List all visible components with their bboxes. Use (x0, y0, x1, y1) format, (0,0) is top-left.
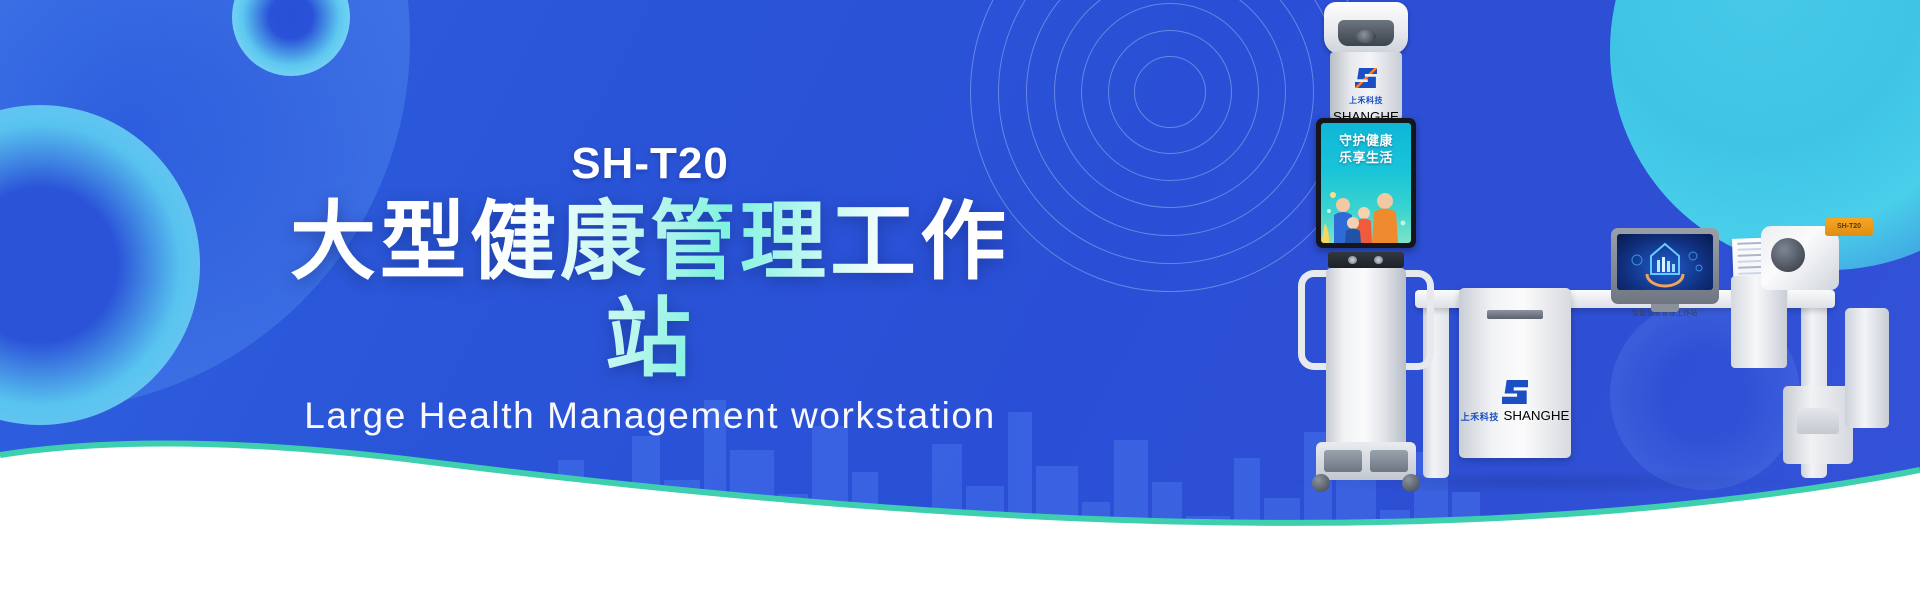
page-subtitle: Large Health Management workstation (270, 395, 1030, 437)
model-label-text: SH-T20 (1825, 218, 1873, 236)
brand-mark-icon (1355, 68, 1377, 88)
model-code: SH-T20 (270, 140, 1030, 188)
kiosk-brand-cn: 上禾科技 (1349, 96, 1383, 105)
kiosk-height-sensor-head (1324, 2, 1408, 54)
health-kiosk: 上禾科技 SHANGHE 守护健康 乐享生活 (1310, 2, 1422, 482)
sensor-dot-right (1374, 256, 1383, 264)
caster-wheel-left (1312, 474, 1330, 492)
caster-wheel-right (1402, 474, 1420, 492)
kiosk-scale-base (1316, 442, 1416, 480)
page-title: 大型健康管理工作站 (270, 194, 1030, 387)
monitor-screen (1617, 234, 1713, 290)
desk-cabinet: 上禾科技 SHANGHE (1459, 288, 1571, 458)
health-hands-icon (1617, 234, 1713, 290)
cabinet-slot (1487, 310, 1543, 319)
family-illustration (1321, 179, 1411, 243)
cabinet-brand-en: SHANGHE (1503, 408, 1569, 423)
kiosk-display[interactable]: 守护健康 乐享生活 (1316, 118, 1416, 248)
model-label-tag: SH-T20 (1825, 218, 1873, 236)
side-box-unit (1845, 308, 1889, 428)
sensor-dot-left (1348, 256, 1357, 264)
product-photo: 上禾科技 SHANGHE (1020, 0, 1920, 600)
kiosk-slogan-line-2: 乐享生活 (1321, 147, 1411, 166)
product-banner: SH-T20 大型健康管理工作站 Large Health Management… (0, 0, 1920, 600)
desk-monitor: 智能健康管理工作站 (1611, 228, 1719, 304)
foot-pad-left (1324, 450, 1362, 472)
headline-block: SH-T20 大型健康管理工作站 Large Health Management… (270, 140, 1030, 437)
kiosk-body-panel (1326, 268, 1406, 448)
cabinet-brand-logo: 上禾科技 SHANGHE (1459, 380, 1571, 425)
kiosk-sensor-bar (1328, 252, 1404, 268)
workstation-desk: 上禾科技 SHANGHE (1415, 290, 1835, 490)
cabinet-brand-cn: 上禾科技 (1461, 412, 1499, 422)
brand-mark-icon (1502, 380, 1528, 404)
kiosk-display-content: 守护健康 乐享生活 (1321, 123, 1411, 243)
side-tower-unit (1783, 386, 1853, 464)
kiosk-camera-icon (1356, 30, 1376, 43)
monitor-frame: 智能健康管理工作站 (1611, 228, 1719, 304)
monitor-stand (1651, 304, 1679, 312)
foot-pad-right (1370, 450, 1408, 472)
kiosk-column: 上禾科技 SHANGHE (1330, 52, 1402, 120)
